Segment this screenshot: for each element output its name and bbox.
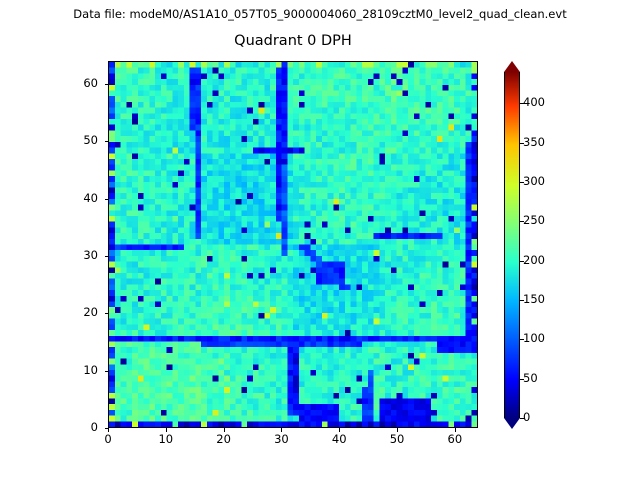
colorbar-under-arrow <box>504 418 520 429</box>
y-tick <box>105 256 109 257</box>
colorbar-tick-label: 250 <box>523 213 545 227</box>
x-tick-label: 60 <box>435 432 475 446</box>
x-tick <box>281 428 282 432</box>
y-tick <box>105 141 109 142</box>
colorbar[interactable] <box>504 61 520 429</box>
colorbar-tick-label: 350 <box>523 135 545 149</box>
detector-heatmap-image[interactable] <box>109 62 477 427</box>
plot-title: Quadrant 0 DPH <box>108 33 478 49</box>
y-tick <box>105 199 109 200</box>
colorbar-over-arrow <box>504 61 520 72</box>
colorbar-tick-label: 400 <box>523 95 545 109</box>
x-tick <box>397 428 398 432</box>
y-tick-label: 60 <box>58 76 98 90</box>
colorbar-tick-label: 0 <box>523 410 530 424</box>
x-tick-label: 0 <box>88 432 128 446</box>
y-tick <box>105 428 109 429</box>
y-tick-label: 10 <box>58 363 98 377</box>
y-tick <box>105 371 109 372</box>
colorbar-tick-label: 50 <box>523 371 538 385</box>
y-tick-label: 40 <box>58 191 98 205</box>
y-tick <box>105 313 109 314</box>
colorbar-tick-label: 200 <box>523 253 545 267</box>
colorbar-tick-label: 150 <box>523 292 545 306</box>
x-tick <box>224 428 225 432</box>
x-tick-label: 10 <box>146 432 186 446</box>
x-tick-label: 50 <box>377 432 417 446</box>
heatmap-axes[interactable] <box>108 61 478 428</box>
y-tick-label: 30 <box>58 248 98 262</box>
colorbar-gradient <box>505 72 519 418</box>
x-tick-label: 30 <box>261 432 301 446</box>
y-tick <box>105 84 109 85</box>
data-file-caption: Data file: modeM0/AS1A10_057T05_90000040… <box>0 7 640 21</box>
x-tick <box>108 428 109 432</box>
colorbar-tick-label: 100 <box>523 331 545 345</box>
y-tick-label: 50 <box>58 133 98 147</box>
matplotlib-figure: Data file: modeM0/AS1A10_057T05_90000040… <box>0 0 640 480</box>
x-tick <box>455 428 456 432</box>
colorbar-body[interactable] <box>504 72 520 418</box>
y-tick-label: 0 <box>58 420 98 434</box>
x-tick <box>166 428 167 432</box>
x-tick-label: 20 <box>204 432 244 446</box>
y-tick-label: 20 <box>58 305 98 319</box>
x-tick <box>339 428 340 432</box>
colorbar-tick-label: 300 <box>523 174 545 188</box>
x-tick-label: 40 <box>319 432 359 446</box>
